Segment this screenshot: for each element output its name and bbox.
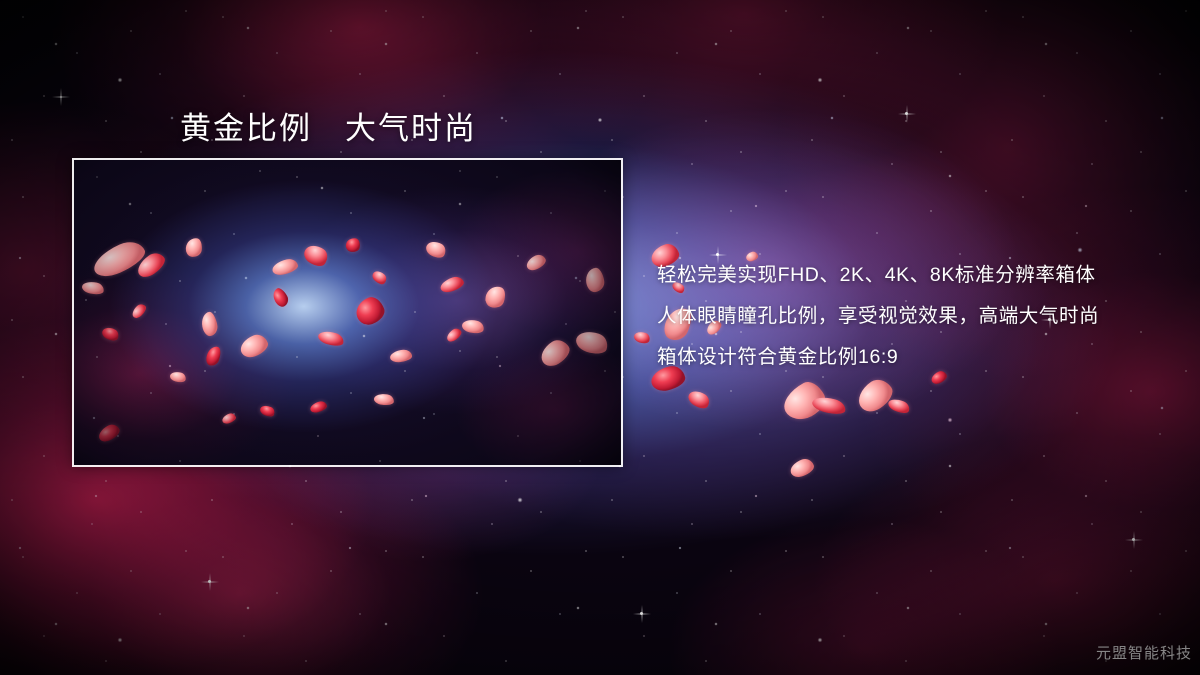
bright-star [905, 112, 908, 115]
petal [887, 396, 912, 415]
galaxy-photo-frame [72, 158, 623, 467]
petal [686, 387, 713, 411]
bright-star [1132, 538, 1135, 541]
bright-star [640, 612, 643, 615]
petal [853, 374, 898, 417]
bright-star [208, 580, 211, 583]
presentation-slide: 黄金比例 大气时尚 轻松完美实现FHD、2K、4K、8K标准分辨率箱体 人体眼睛… [0, 0, 1200, 675]
petal [811, 394, 848, 417]
photo-vignette [74, 160, 621, 465]
bright-star [60, 96, 62, 98]
page-title: 黄金比例 大气时尚 [180, 103, 477, 148]
body-line-2: 人体眼睛瞳孔比例，享受视觉效果，高端大气时尚 [657, 296, 1099, 337]
body-copy-block: 轻松完美实现FHD、2K、4K、8K标准分辨率箱体 人体眼睛瞳孔比例，享受视觉效… [657, 255, 1099, 378]
petal [788, 456, 816, 479]
petal [633, 330, 652, 345]
body-line-3: 箱体设计符合黄金比例16:9 [657, 337, 1099, 378]
watermark-text: 元盟智能科技 [1096, 642, 1192, 663]
body-line-1: 轻松完美实现FHD、2K、4K、8K标准分辨率箱体 [657, 255, 1099, 296]
